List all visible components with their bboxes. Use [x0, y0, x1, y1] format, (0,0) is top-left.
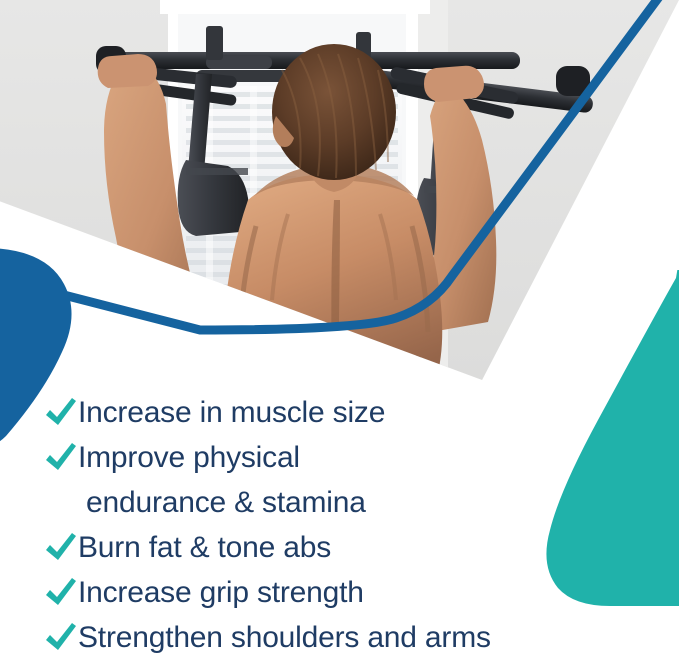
benefit-item-continuation: endurance & stamina	[44, 482, 664, 527]
benefit-label: Improve physical	[78, 437, 300, 479]
benefit-item: Increase in muscle size	[44, 392, 664, 437]
benefit-label: Increase in muscle size	[78, 392, 385, 434]
benefit-label: Increase grip strength	[78, 572, 364, 614]
benefit-label: Strengthen shoulders and arms	[78, 617, 491, 654]
benefit-item: Burn fat & tone abs	[44, 527, 664, 572]
check-icon	[44, 572, 78, 614]
check-icon	[44, 527, 78, 569]
benefit-item: Increase grip strength	[44, 572, 664, 617]
benefit-label: Burn fat & tone abs	[78, 527, 331, 569]
benefit-item: Improve physical	[44, 437, 664, 482]
check-icon	[44, 392, 78, 434]
benefit-item: Strengthen shoulders and arms	[44, 617, 664, 654]
product-feature-card: Increase in muscle size Improve physical…	[0, 0, 679, 654]
check-icon	[44, 437, 78, 479]
benefits-list: Increase in muscle size Improve physical…	[44, 392, 664, 654]
benefit-label: endurance & stamina	[82, 482, 366, 524]
check-icon	[44, 617, 78, 654]
